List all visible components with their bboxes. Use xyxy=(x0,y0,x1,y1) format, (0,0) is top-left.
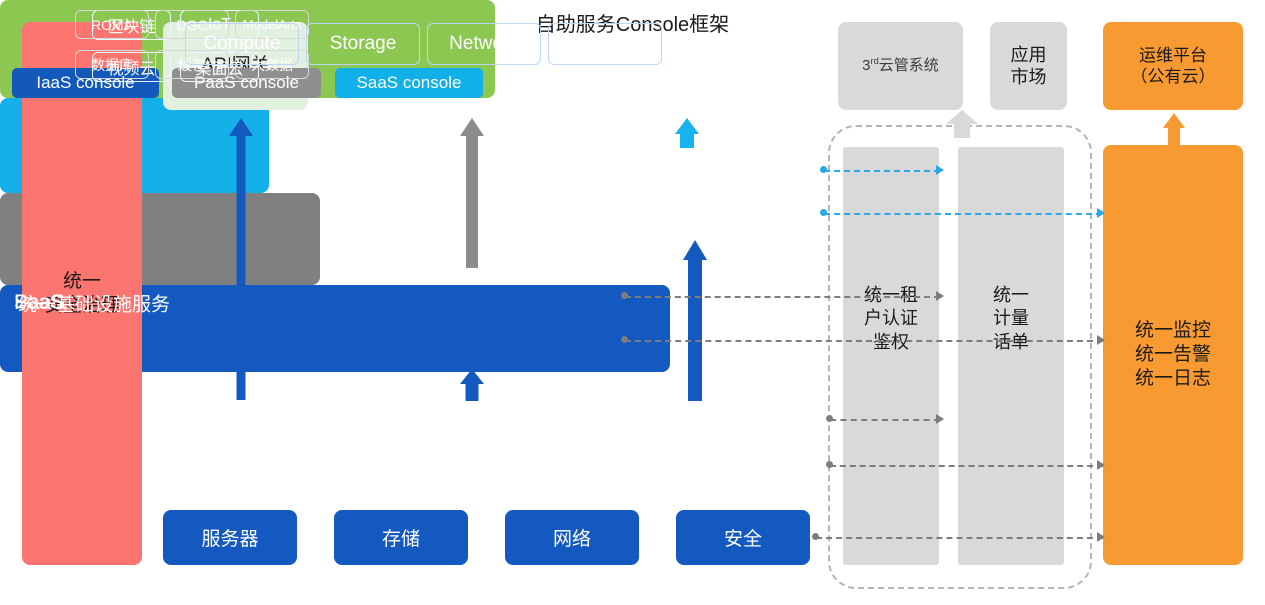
ops-platform-public-cloud-box: 运维平台（公有云） xyxy=(1103,22,1243,110)
connector-arrowhead-saas-to-ops xyxy=(1097,208,1105,218)
connector-saas-to-auth xyxy=(824,170,940,172)
ops-platform-public-cloud-label: 运维平台（公有云） xyxy=(1131,45,1216,88)
connector-arrowhead-saas-to-auth xyxy=(936,165,944,175)
unified-infrastructure-label: 统一基础设施服务 xyxy=(18,289,170,316)
bottom-box-storage: 存储 xyxy=(334,510,468,565)
arrow-saas-to-console xyxy=(671,118,703,148)
connector-arrowhead-bottom-row-to-ops xyxy=(1097,532,1105,542)
architecture-diagram: 统一安全治理 API网关 自助服务Console框架 IaaS console … xyxy=(0,0,1265,605)
paas-chip-roma[interactable]: ROMA xyxy=(75,10,149,39)
unified-metering-column: 统一计量话单 xyxy=(958,147,1064,565)
connector-arrowhead-infra-to-ops xyxy=(1097,460,1105,470)
infra-chip-cce[interactable]: CCE xyxy=(548,23,662,65)
infra-chip-network[interactable]: Network xyxy=(427,23,541,65)
bottom-box-server: 服务器 xyxy=(163,510,297,565)
infra-chip-storage[interactable]: Storage xyxy=(306,23,420,65)
connector-infra-to-auth xyxy=(830,419,940,421)
unified-metering-label: 统一计量话单 xyxy=(958,284,1064,354)
bottom-box-network: 网络 xyxy=(505,510,639,565)
ops-monitoring-panel: 统一监控统一告警统一日志 xyxy=(1103,145,1243,565)
arrow-ops-main-to-ops-top xyxy=(1159,113,1189,145)
third-party-cloud-mgmt-label: 3rd云管系统 xyxy=(862,56,939,76)
ops-monitoring-label: 统一监控统一告警统一日志 xyxy=(1135,319,1211,390)
connector-arrowhead-paas-to-auth xyxy=(936,291,944,301)
saas-console-chip[interactable]: SaaS console xyxy=(335,68,483,98)
arrow-infra-to-saas xyxy=(678,240,712,401)
bottom-box-security: 安全 xyxy=(676,510,810,565)
connector-paas-to-auth xyxy=(625,296,940,298)
arrow-paas-to-console xyxy=(456,118,488,268)
app-market-box: 应用市场 xyxy=(990,22,1067,110)
paas-chip-database[interactable]: 数据库 xyxy=(75,50,149,79)
app-market-label: 应用市场 xyxy=(1011,44,1047,89)
connector-saas-to-ops xyxy=(824,213,1102,215)
connector-paas-to-ops xyxy=(625,340,1103,342)
arrow-infra-to-paas xyxy=(456,369,488,401)
arrow-to-third-party-cloud xyxy=(944,110,980,138)
connector-infra-to-ops xyxy=(830,465,1103,467)
unified-tenant-auth-column: 统一租户认证鉴权 xyxy=(843,147,939,565)
infra-chip-compute[interactable]: Compute xyxy=(185,23,299,65)
connector-arrowhead-paas-to-ops xyxy=(1097,335,1105,345)
third-party-cloud-mgmt-box: 3rd云管系统 xyxy=(838,22,963,110)
unified-tenant-auth-label: 统一租户认证鉴权 xyxy=(843,284,939,354)
connector-bottom-row-to-ops xyxy=(816,537,1103,539)
connector-arrowhead-infra-to-auth xyxy=(936,414,944,424)
arrow-infra-to-api-gateway xyxy=(225,118,257,400)
